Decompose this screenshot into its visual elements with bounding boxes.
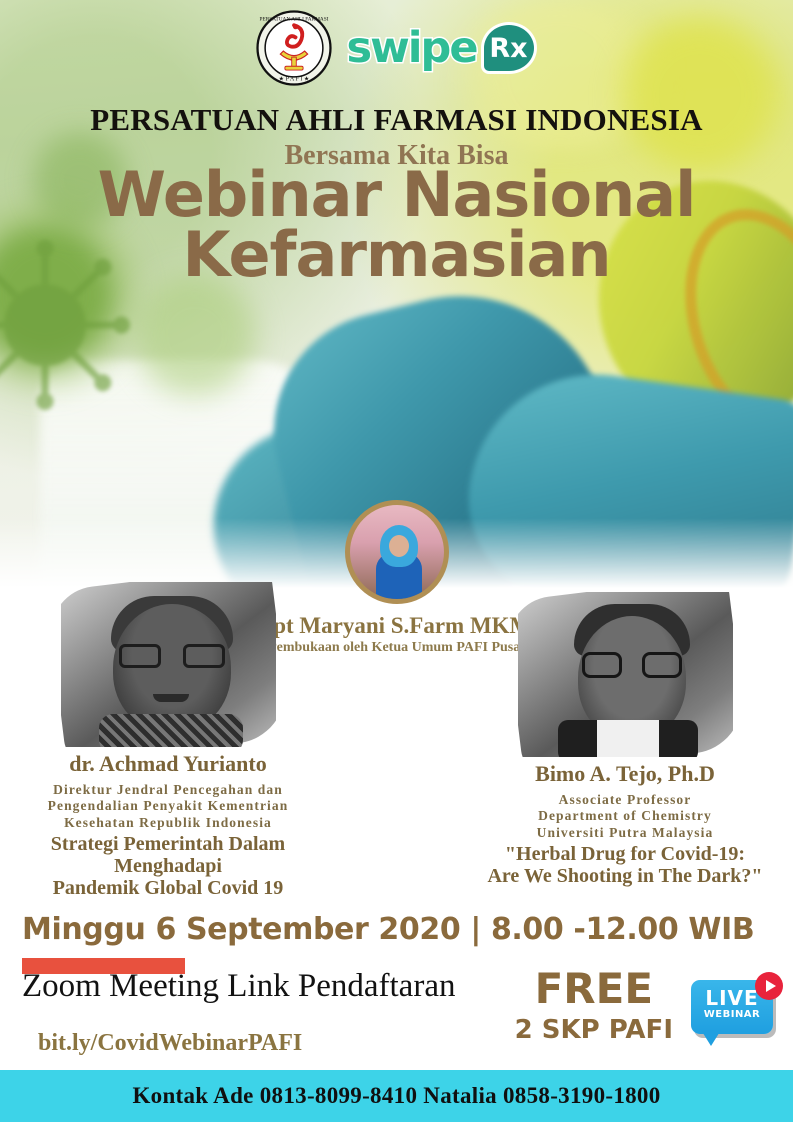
speaker-left-photo (61, 582, 276, 747)
portrait-shirt (99, 714, 243, 747)
registration-link[interactable]: bit.ly/CovidWebinarPAFI (38, 1030, 302, 1057)
skp-label: 2 SKP PAFI (515, 1015, 673, 1045)
speaker-left: dr. Achmad Yurianto Direktur Jendral Pen… (8, 582, 328, 899)
avatar-face (389, 535, 409, 557)
speaker-left-affiliation: Direktur Jendral Pencegahan dan Pengenda… (8, 782, 328, 831)
free-label: FREE (515, 968, 673, 1010)
schedule-datetime: Minggu 6 September 2020 | 8.00 -12.00 WI… (22, 912, 754, 947)
logo-row: ★ P A F I ★ PERSATUAN AHLI FARMASI swipe… (0, 8, 793, 88)
swipe-wordmark: swipe (346, 27, 476, 70)
speaker-right-photo (518, 592, 733, 757)
speaker-left-name: dr. Achmad Yurianto (8, 751, 328, 777)
svg-text:★ P A F I ★: ★ P A F I ★ (279, 76, 310, 83)
contact-footer: Kontak Ade 0813-8099-8410 Natalia 0858-3… (0, 1070, 793, 1122)
badge-bubble-tail (701, 1030, 721, 1046)
live-webinar-badge: LIVE WEBINAR (685, 972, 785, 1050)
glasses-icon (582, 652, 682, 678)
registration-label: Zoom Meeting Link Pendaftaran (22, 968, 455, 1005)
speaker-left-topic: Strategi Pemerintah Dalam Menghadapi Pan… (8, 834, 328, 899)
portrait-face (113, 604, 231, 732)
organization-title: PERSATUAN AHLI FARMASI INDONESIA (0, 102, 793, 138)
speaker-right-affiliation: Associate Professor Department of Chemis… (465, 792, 785, 841)
swiperx-logo: swipe Rx (346, 22, 536, 74)
rx-bubble-icon: Rx (481, 22, 537, 74)
speaker-right: Bimo A. Tejo, Ph.D Associate Professor D… (465, 592, 785, 888)
page-title: Webinar Nasional Kefarmasian (0, 165, 793, 285)
svg-text:PERSATUAN AHLI FARMASI: PERSATUAN AHLI FARMASI (260, 17, 329, 23)
contact-text: Kontak Ade 0813-8099-8410 Natalia 0858-3… (132, 1083, 660, 1109)
portrait-mouth (153, 694, 189, 702)
speaker-right-topic: "Herbal Drug for Covid-19: Are We Shooti… (465, 844, 785, 887)
pricing-block: FREE 2 SKP PAFI (515, 968, 673, 1045)
title-line-2: Kefarmasian (0, 225, 793, 285)
play-icon (755, 972, 783, 1000)
portrait-suit (558, 720, 698, 757)
badge-webinar-text: WEBINAR (691, 1009, 773, 1020)
speaker-right-name: Bimo A. Tejo, Ph.D (465, 761, 785, 787)
glasses-icon (119, 644, 225, 668)
pafi-logo-icon: ★ P A F I ★ PERSATUAN AHLI FARMASI (256, 10, 332, 86)
avatar (345, 500, 449, 604)
webinar-poster: ★ P A F I ★ PERSATUAN AHLI FARMASI swipe… (0, 0, 793, 1122)
